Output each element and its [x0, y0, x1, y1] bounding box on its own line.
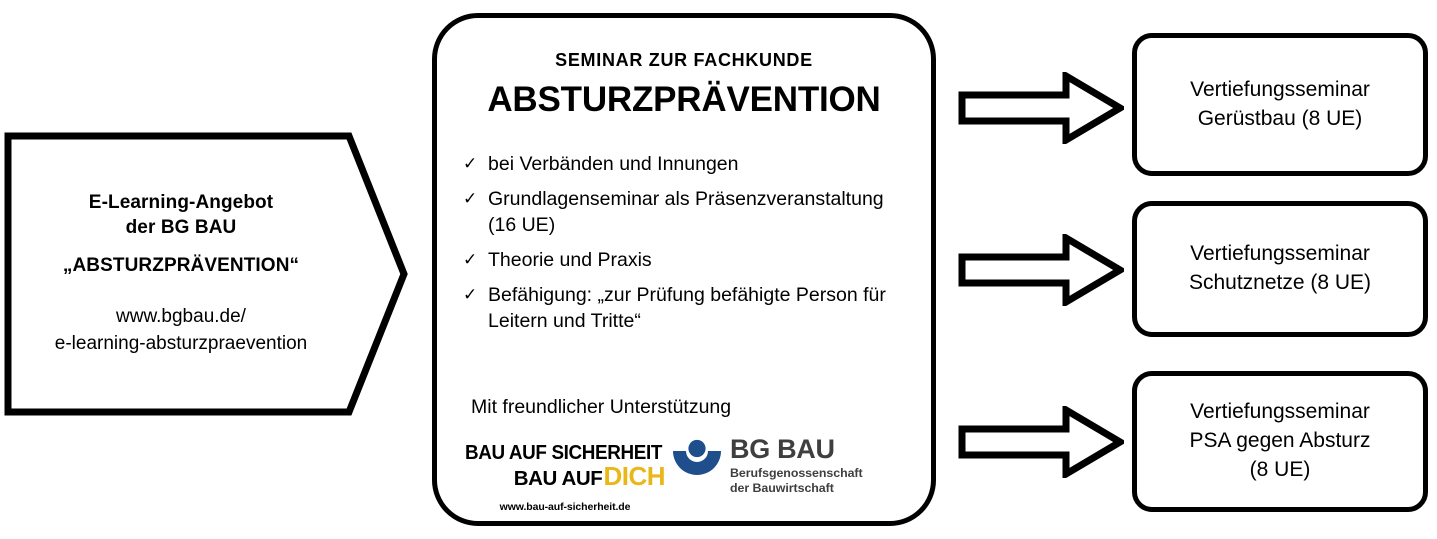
- list-item: ✓ Befähigung: „zur Prüfung befähigte Per…: [463, 283, 915, 335]
- outcome-box-text: Vertiefungsseminar PSA gegen Absturz (8 …: [1190, 398, 1371, 485]
- outcome-line-1: Vertiefungsseminar: [1190, 398, 1371, 427]
- outcome-box-text: Vertiefungsseminar Schutznetze (8 UE): [1189, 240, 1371, 298]
- checkmark-icon: ✓: [463, 152, 488, 177]
- left-callout-line-1: E-Learning-Angebot: [89, 190, 273, 215]
- bas-logo-line-2-prefix: BAU AUF: [514, 468, 603, 490]
- left-callout-url-line-2[interactable]: e-learning-absturzpraevention: [55, 331, 307, 358]
- left-callout-line-2: der BG BAU: [126, 215, 237, 240]
- list-item: ✓ Theorie und Praxis: [463, 248, 915, 274]
- arrow-to-outcome-3: [958, 406, 1124, 478]
- bas-logo-line-1: BAU AUF SICHERHEIT: [465, 442, 649, 464]
- left-callout-url-line-1[interactable]: www.bgbau.de/: [116, 304, 246, 331]
- bas-logo-url: www.bau-auf-sicherheit.de: [465, 501, 665, 513]
- checkmark-icon: ✓: [463, 187, 488, 212]
- list-item-label: Befähigung: „zur Prüfung befähigte Perso…: [488, 283, 915, 335]
- block-arrow-icon: [958, 234, 1124, 306]
- outcome-box-geruestbau: Vertiefungsseminar Gerüstbau (8 UE): [1132, 33, 1428, 176]
- center-seminar-card: SEMINAR ZUR FACHKUNDE ABSTURZPRÄVENTION …: [432, 13, 936, 526]
- outcome-line-1: Vertiefungsseminar: [1190, 76, 1370, 105]
- list-item-label: Grundlagenseminar als Präsenzveranstaltu…: [488, 187, 915, 239]
- list-item-label: bei Verbänden und Innungen: [488, 152, 915, 178]
- checkmark-icon: ✓: [463, 248, 488, 273]
- bg-bau-name: BG BAU: [730, 436, 863, 463]
- card-eyebrow-label: SEMINAR ZUR FACHKUNDE: [437, 50, 931, 71]
- left-callout-pentagon: E-Learning-Angebot der BG BAU „ABSTURZPR…: [4, 132, 412, 416]
- bau-auf-sicherheit-logo: BAU AUF SICHERHEIT BAU AUFDICH www.bau-a…: [465, 442, 665, 526]
- card-bullet-list: ✓ bei Verbänden und Innungen ✓ Grundlage…: [463, 152, 915, 344]
- outcome-line-1: Vertiefungsseminar: [1189, 240, 1371, 269]
- bas-logo-line-2: BAU AUFDICH: [465, 465, 665, 490]
- outcome-box-schutznetze: Vertiefungsseminar Schutznetze (8 UE): [1132, 201, 1428, 337]
- bg-bau-subline-1: Berufsgenossenschaft: [730, 466, 863, 481]
- outcome-line-2: Schutznetze (8 UE): [1189, 269, 1371, 298]
- outcome-line-2: PSA gegen Absturz: [1190, 427, 1371, 456]
- list-item: ✓ bei Verbänden und Innungen: [463, 152, 915, 178]
- bg-bau-mark-icon: [671, 438, 723, 480]
- outcome-line-2: Gerüstbau (8 UE): [1190, 105, 1370, 134]
- support-label: Mit freundlicher Unterstützung: [471, 396, 731, 419]
- arrow-to-outcome-1: [958, 72, 1124, 144]
- block-arrow-icon: [958, 72, 1124, 144]
- arrow-to-outcome-2: [958, 234, 1124, 306]
- list-item: ✓ Grundlagenseminar als Präsenzveranstal…: [463, 187, 915, 239]
- outcome-line-3: (8 UE): [1190, 456, 1371, 485]
- diagram-canvas: E-Learning-Angebot der BG BAU „ABSTURZPR…: [0, 0, 1437, 539]
- list-item-label: Theorie und Praxis: [488, 248, 915, 274]
- block-arrow-icon: [958, 406, 1124, 478]
- left-callout-text-block: E-Learning-Angebot der BG BAU „ABSTURZPR…: [16, 132, 346, 416]
- outcome-box-psa-gegen-absturz: Vertiefungsseminar PSA gegen Absturz (8 …: [1132, 371, 1428, 512]
- bg-bau-wordmark: BG BAU Berufsgenossenschaft der Bauwirts…: [730, 436, 863, 496]
- card-title: ABSTURZPRÄVENTION: [437, 80, 931, 120]
- bas-logo-highlight-dich: DICH: [603, 465, 665, 487]
- bg-bau-subline-2: der Bauwirtschaft: [730, 481, 863, 496]
- left-callout-line-3: „ABSTURZPRÄVENTION“: [63, 253, 299, 278]
- bg-bau-logo: BG BAU Berufsgenossenschaft der Bauwirts…: [671, 436, 886, 510]
- outcome-box-text: Vertiefungsseminar Gerüstbau (8 UE): [1190, 76, 1370, 134]
- checkmark-icon: ✓: [463, 283, 488, 308]
